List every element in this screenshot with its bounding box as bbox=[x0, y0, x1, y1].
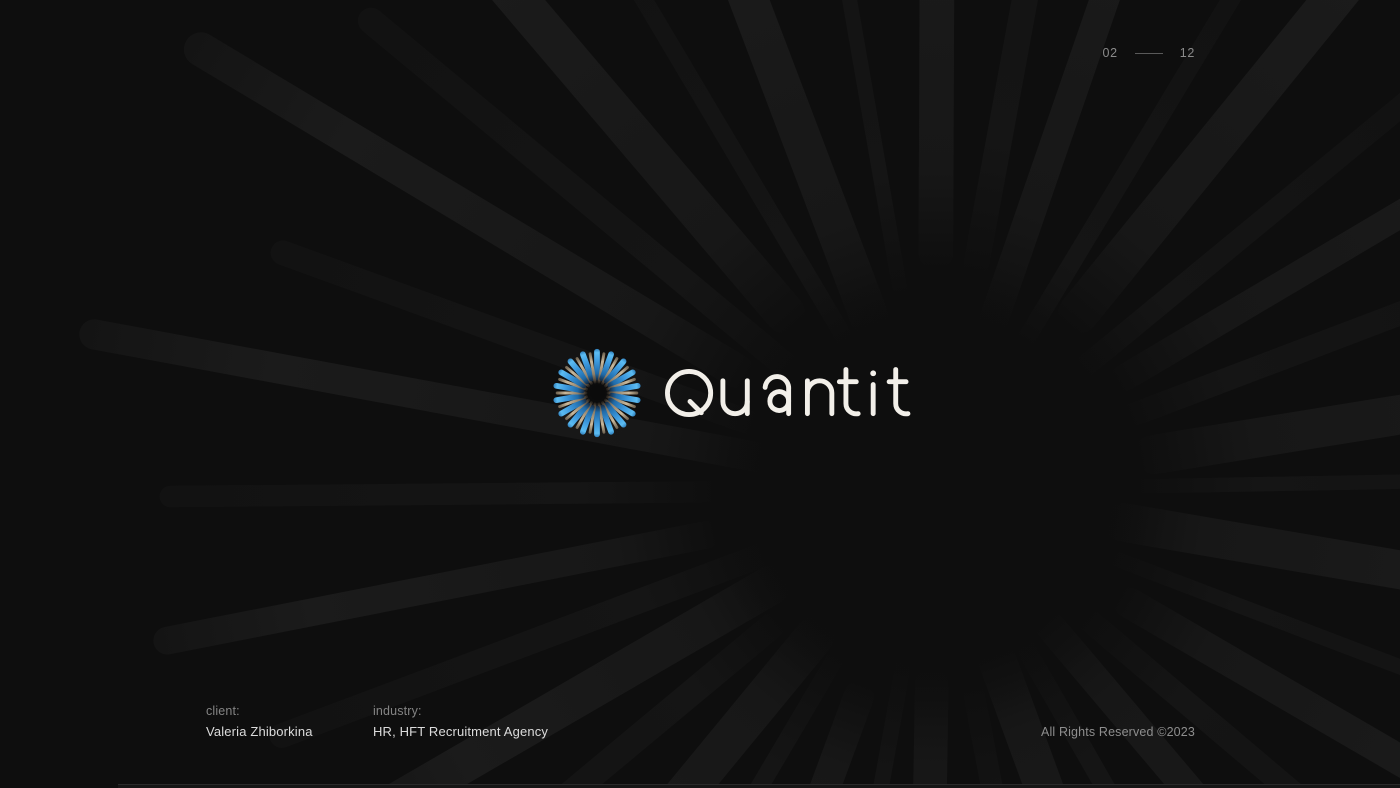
page-indicator-dash bbox=[1135, 53, 1163, 54]
industry-meta: industry: HR, HFT Recruitment Agency bbox=[373, 702, 548, 741]
page-indicator: 02 12 bbox=[1102, 46, 1195, 60]
next-slide-edge bbox=[118, 784, 1400, 788]
background-burst-ray bbox=[601, 0, 864, 363]
background-burst-ray bbox=[1119, 253, 1400, 430]
background-burst-ray bbox=[633, 0, 894, 341]
background-burst-ray bbox=[1073, 604, 1400, 788]
slide-footer: client: Valeria Zhiborkina industry: HR,… bbox=[0, 702, 1400, 744]
background-burst-ray bbox=[961, 0, 1086, 282]
logo-lockup bbox=[549, 345, 941, 441]
background-burst-ray bbox=[810, 0, 910, 302]
client-meta: client: Valeria Zhiborkina bbox=[206, 702, 313, 741]
background-burst-ray bbox=[464, 609, 842, 788]
background-burst-ray bbox=[1101, 500, 1400, 631]
client-label: client: bbox=[206, 702, 313, 720]
industry-value: HR, HFT Recruitment Agency bbox=[373, 723, 548, 741]
background-burst-ray bbox=[1131, 331, 1400, 477]
quantit-wordmark bbox=[659, 362, 941, 424]
industry-label: industry: bbox=[373, 702, 548, 720]
presentation-slide: 02 12 bbox=[0, 0, 1400, 788]
background-burst-ray bbox=[361, 0, 813, 342]
background-burst-ray bbox=[160, 481, 723, 507]
background-burst-ray bbox=[178, 26, 761, 394]
copyright-notice: All Rights Reserved ©2023 bbox=[1041, 723, 1195, 741]
background-burst-ray bbox=[434, 607, 791, 788]
background-burst-ray bbox=[1071, 81, 1400, 381]
background-burst-ray bbox=[353, 2, 804, 383]
background-burst-ray bbox=[1108, 582, 1400, 788]
page-current: 02 bbox=[1102, 46, 1117, 60]
background-burst-ray bbox=[328, 558, 798, 788]
background-burst-ray bbox=[1105, 24, 1400, 397]
page-total: 12 bbox=[1180, 46, 1195, 60]
background-burst-ray bbox=[918, 0, 955, 271]
background-burst-ray bbox=[1024, 600, 1400, 788]
radial-burst-mark bbox=[549, 345, 645, 441]
letter-i-dot bbox=[870, 370, 876, 376]
background-burst-ray bbox=[151, 519, 722, 657]
background-burst-ray bbox=[1131, 470, 1400, 493]
client-value: Valeria Zhiborkina bbox=[206, 723, 313, 741]
